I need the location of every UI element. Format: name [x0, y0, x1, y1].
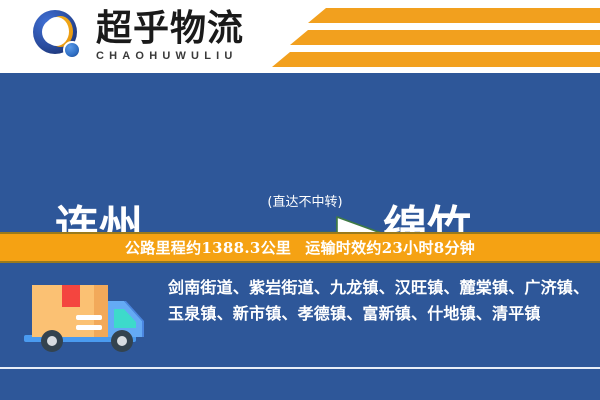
logo-crescent-cutout [44, 17, 69, 46]
footer-divider [0, 367, 600, 369]
direct-route-note: (直达不中转) [225, 191, 385, 210]
route-band: 连州 (直达不中转) 【往返运输】 绵竹 [0, 73, 600, 232]
duration-text: 运输时效约23小时8分钟 [305, 239, 475, 257]
logo-q-crescent-icon [33, 10, 87, 64]
header-bar: 超乎物流 CHAOHUWULIU [0, 0, 600, 73]
orange-diagonal-stripes-icon [270, 8, 600, 68]
distance-text: 公路里程约1388.3公里 [125, 239, 291, 257]
logo-dot-shape [63, 41, 81, 59]
logistics-route-poster: 超乎物流 CHAOHUWULIU 连州 (直达不中转) 【往返运输】 绵竹 公路… [0, 0, 600, 400]
brand-name-cn: 超乎物流 [96, 8, 296, 48]
brand-block: 超乎物流 CHAOHUWULIU [96, 8, 296, 63]
coverage-areas-text: 剑南街道、紫岩街道、九龙镇、汉旺镇、麓棠镇、广济镇、玉泉镇、新市镇、孝德镇、富新… [168, 275, 592, 327]
info-bar: 公路里程约1388.3公里运输时效约23小时8分钟 [0, 232, 600, 263]
info-bar-text: 公路里程约1388.3公里运输时效约23小时8分钟 [125, 237, 475, 258]
coverage-section: 剑南街道、紫岩街道、九龙镇、汉旺镇、麓棠镇、广济镇、玉泉镇、新市镇、孝德镇、富新… [0, 263, 600, 400]
delivery-truck-icon [22, 277, 150, 357]
brand-name-en: CHAOHUWULIU [96, 49, 296, 63]
